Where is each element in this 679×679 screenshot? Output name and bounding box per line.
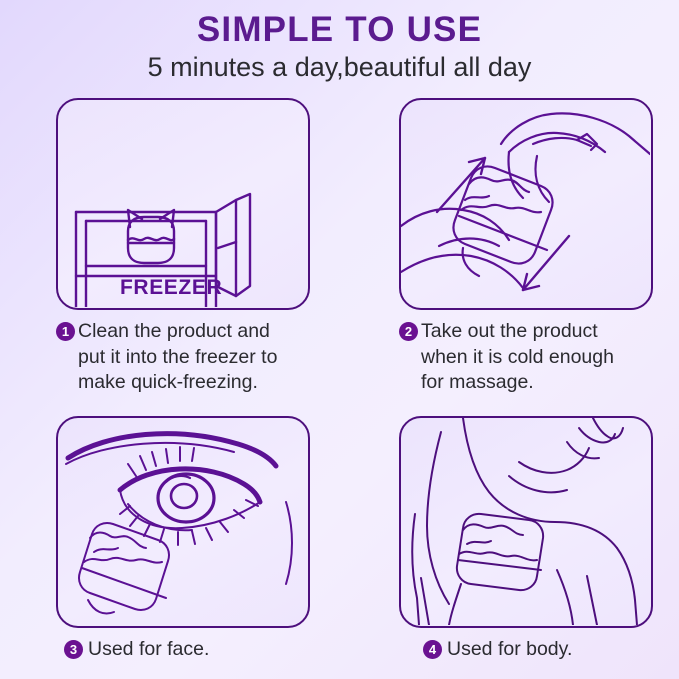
step-3-illustration-panel xyxy=(56,416,310,628)
step-2: 2 Take out the product when it is cold e… xyxy=(381,98,679,396)
step-1-text: Clean the product and put it into the fr… xyxy=(78,319,277,396)
step-4-badge: 4 xyxy=(423,640,442,659)
page-subtitle: 5 minutes a day,beautiful all day xyxy=(0,53,679,83)
neck-shoulder-illustration xyxy=(401,418,650,625)
hand-holding-product-illustration xyxy=(401,100,650,307)
step-3: 3 Used for face. xyxy=(38,416,338,663)
step-4: 4 Used for body. xyxy=(381,416,679,663)
step-4-text: Used for body. xyxy=(447,637,572,663)
step-3-caption: 3 Used for face. xyxy=(38,637,338,663)
step-2-badge: 2 xyxy=(399,322,418,341)
step-1-caption: 1 Clean the product and put it into the … xyxy=(38,319,338,396)
freezer-label: FREEZER xyxy=(120,276,222,299)
step-4-caption: 4 Used for body. xyxy=(381,637,679,663)
infographic-page: SIMPLE TO USE 5 minutes a day,beautiful … xyxy=(0,0,679,679)
page-title: SIMPLE TO USE xyxy=(0,12,679,49)
step-2-text: Take out the product when it is cold eno… xyxy=(421,319,614,396)
eye-illustration xyxy=(58,418,307,625)
step-2-illustration-panel xyxy=(399,98,653,310)
step-4-illustration-panel xyxy=(399,416,653,628)
step-1-badge: 1 xyxy=(56,322,75,341)
header: SIMPLE TO USE 5 minutes a day,beautiful … xyxy=(0,0,679,82)
freezer-illustration: FREEZER xyxy=(58,100,307,307)
step-3-text: Used for face. xyxy=(88,637,209,663)
step-3-badge: 3 xyxy=(64,640,83,659)
step-1: FREEZER 1 Clean the product and put it i… xyxy=(38,98,338,396)
step-2-caption: 2 Take out the product when it is cold e… xyxy=(381,319,679,396)
step-1-illustration-panel: FREEZER xyxy=(56,98,310,310)
